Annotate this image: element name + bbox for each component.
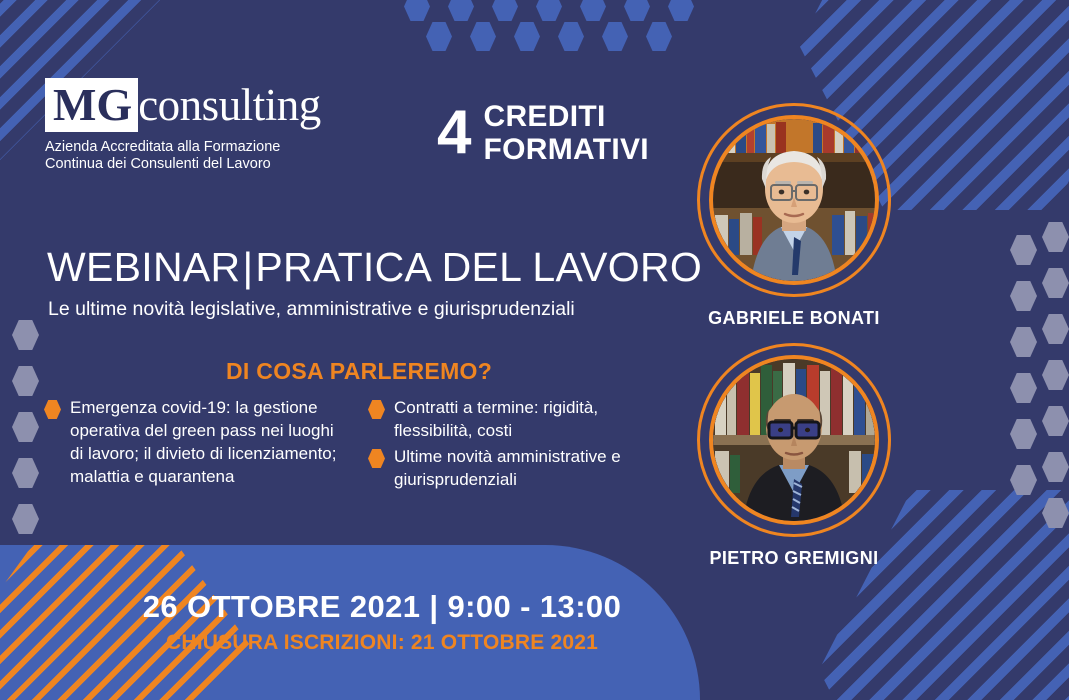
registration-deadline: CHIUSURA ISCRIZIONI: 21 OTTOBRE 2021: [0, 631, 700, 655]
logo-word-consulting: consulting: [138, 80, 321, 130]
hexagon-dot-icon: [492, 0, 518, 21]
avatar: [709, 355, 879, 525]
hexagon-dot-icon: [1010, 327, 1037, 357]
hexagon-dot-icon: [580, 0, 606, 21]
hexagon-dot-icon: [1042, 406, 1069, 436]
logo-tagline: Azienda Accreditata alla Formazione Cont…: [45, 139, 321, 173]
hexagon-dot-icon: [536, 0, 562, 21]
agenda-topics: Emergenza covid-19: la gestione operativ…: [44, 396, 664, 494]
hexagon-dot-icon: [1010, 235, 1037, 265]
hexagon-dot-icon: [1042, 314, 1069, 344]
agenda-item-text: Contratti a termine: rigidità, flessibil…: [394, 396, 664, 442]
hexagon-dot-icon: [558, 22, 584, 51]
agenda-item-text: Ultime novità amministrative e giurispru…: [394, 445, 664, 491]
hexagon-dot-icon: [1042, 360, 1069, 390]
hexagon-dot-icon: [12, 458, 39, 488]
event-date-time: 26 OTTOBRE 2021 | 9:00 - 13:00: [0, 589, 700, 625]
training-credits-badge: 4 CREDITI FORMATIVI: [437, 100, 649, 166]
hexagon-dot-icon: [12, 412, 39, 442]
portrait-illustration-gremigni: [713, 359, 875, 521]
agenda-heading: DI COSA PARLEREMO?: [226, 358, 492, 385]
hexagon-dot-icon: [646, 22, 672, 51]
hexagon-dot-icon: [404, 0, 430, 21]
speaker-photo-ring: [697, 103, 891, 297]
hexagon-dot-icon: [470, 22, 496, 51]
speaker-portrait-image: [713, 119, 875, 281]
hexagon-bullet-icon: [44, 400, 61, 419]
portrait-illustration-bonati: [713, 119, 875, 281]
speaker-name: GABRIELE BONATI: [697, 308, 891, 329]
credits-label: CREDITI FORMATIVI: [483, 100, 648, 166]
speaker-card-pietro-gremigni: PIETRO GREMIGNI: [697, 343, 891, 569]
speaker-card-gabriele-bonati: GABRIELE BONATI: [697, 103, 891, 329]
hexagon-dot-icon: [668, 0, 694, 21]
hexagon-dot-icon: [1042, 452, 1069, 482]
hexagon-dot-icon: [624, 0, 650, 21]
hexagon-dot-icon: [1010, 281, 1037, 311]
hexagon-dot-icon: [1042, 268, 1069, 298]
hexagon-dot-icon: [1010, 373, 1037, 403]
avatar: [709, 115, 879, 285]
hexagon-dot-icon: [1042, 222, 1069, 252]
hexagon-bullet-icon: [368, 400, 385, 419]
speaker-portrait-image: [713, 359, 875, 521]
hexagon-dot-row-top-second: [426, 22, 690, 51]
schedule-banner: 26 OTTOBRE 2021 | 9:00 - 13:00 CHIUSURA …: [0, 545, 700, 700]
hexagon-column-right-outer-decoration: [1042, 222, 1069, 544]
credits-number: 4: [437, 104, 471, 162]
logo-mark-mg: MG: [45, 78, 138, 132]
webinar-poster: MG consulting Azienda Accreditata alla F…: [0, 0, 1069, 700]
list-item: Ultime novità amministrative e giurispru…: [368, 445, 664, 491]
hexagon-dot-icon: [1042, 498, 1069, 528]
title-separator: |: [240, 244, 255, 290]
hexagon-dot-icon: [602, 22, 628, 51]
agenda-column-right: Contratti a termine: rigidità, flessibil…: [368, 396, 664, 494]
hexagon-dot-icon: [448, 0, 474, 21]
hexagon-dot-icon: [1010, 465, 1037, 495]
hexagon-dot-row-top-first: [404, 0, 712, 21]
hexagon-dot-icon: [12, 504, 39, 534]
page-title: WEBINAR|PRATICA DEL LAVORO: [47, 244, 702, 291]
agenda-column-left: Emergenza covid-19: la gestione operativ…: [44, 396, 340, 494]
speaker-photo-ring: [697, 343, 891, 537]
hexagon-dot-icon: [514, 22, 540, 51]
list-item: Emergenza covid-19: la gestione operativ…: [44, 396, 340, 488]
hexagon-dot-icon: [1010, 419, 1037, 449]
title-primary: WEBINAR: [47, 244, 240, 290]
logo-wordmark: MG consulting: [45, 78, 321, 132]
hexagon-dot-icon: [426, 22, 452, 51]
company-logo: MG consulting Azienda Accreditata alla F…: [45, 78, 321, 173]
hexagon-dot-icon: [12, 366, 39, 396]
hexagon-bullet-icon: [368, 449, 385, 468]
list-item: Contratti a termine: rigidità, flessibil…: [368, 396, 664, 442]
page-subtitle: Le ultime novità legislative, amministra…: [48, 298, 575, 321]
title-secondary: PRATICA DEL LAVORO: [255, 244, 702, 290]
hexagon-dot-icon: [12, 320, 39, 350]
speaker-name: PIETRO GREMIGNI: [697, 548, 891, 569]
hexagon-column-right-inner-decoration: [1010, 235, 1037, 511]
agenda-item-text: Emergenza covid-19: la gestione operativ…: [70, 396, 340, 488]
